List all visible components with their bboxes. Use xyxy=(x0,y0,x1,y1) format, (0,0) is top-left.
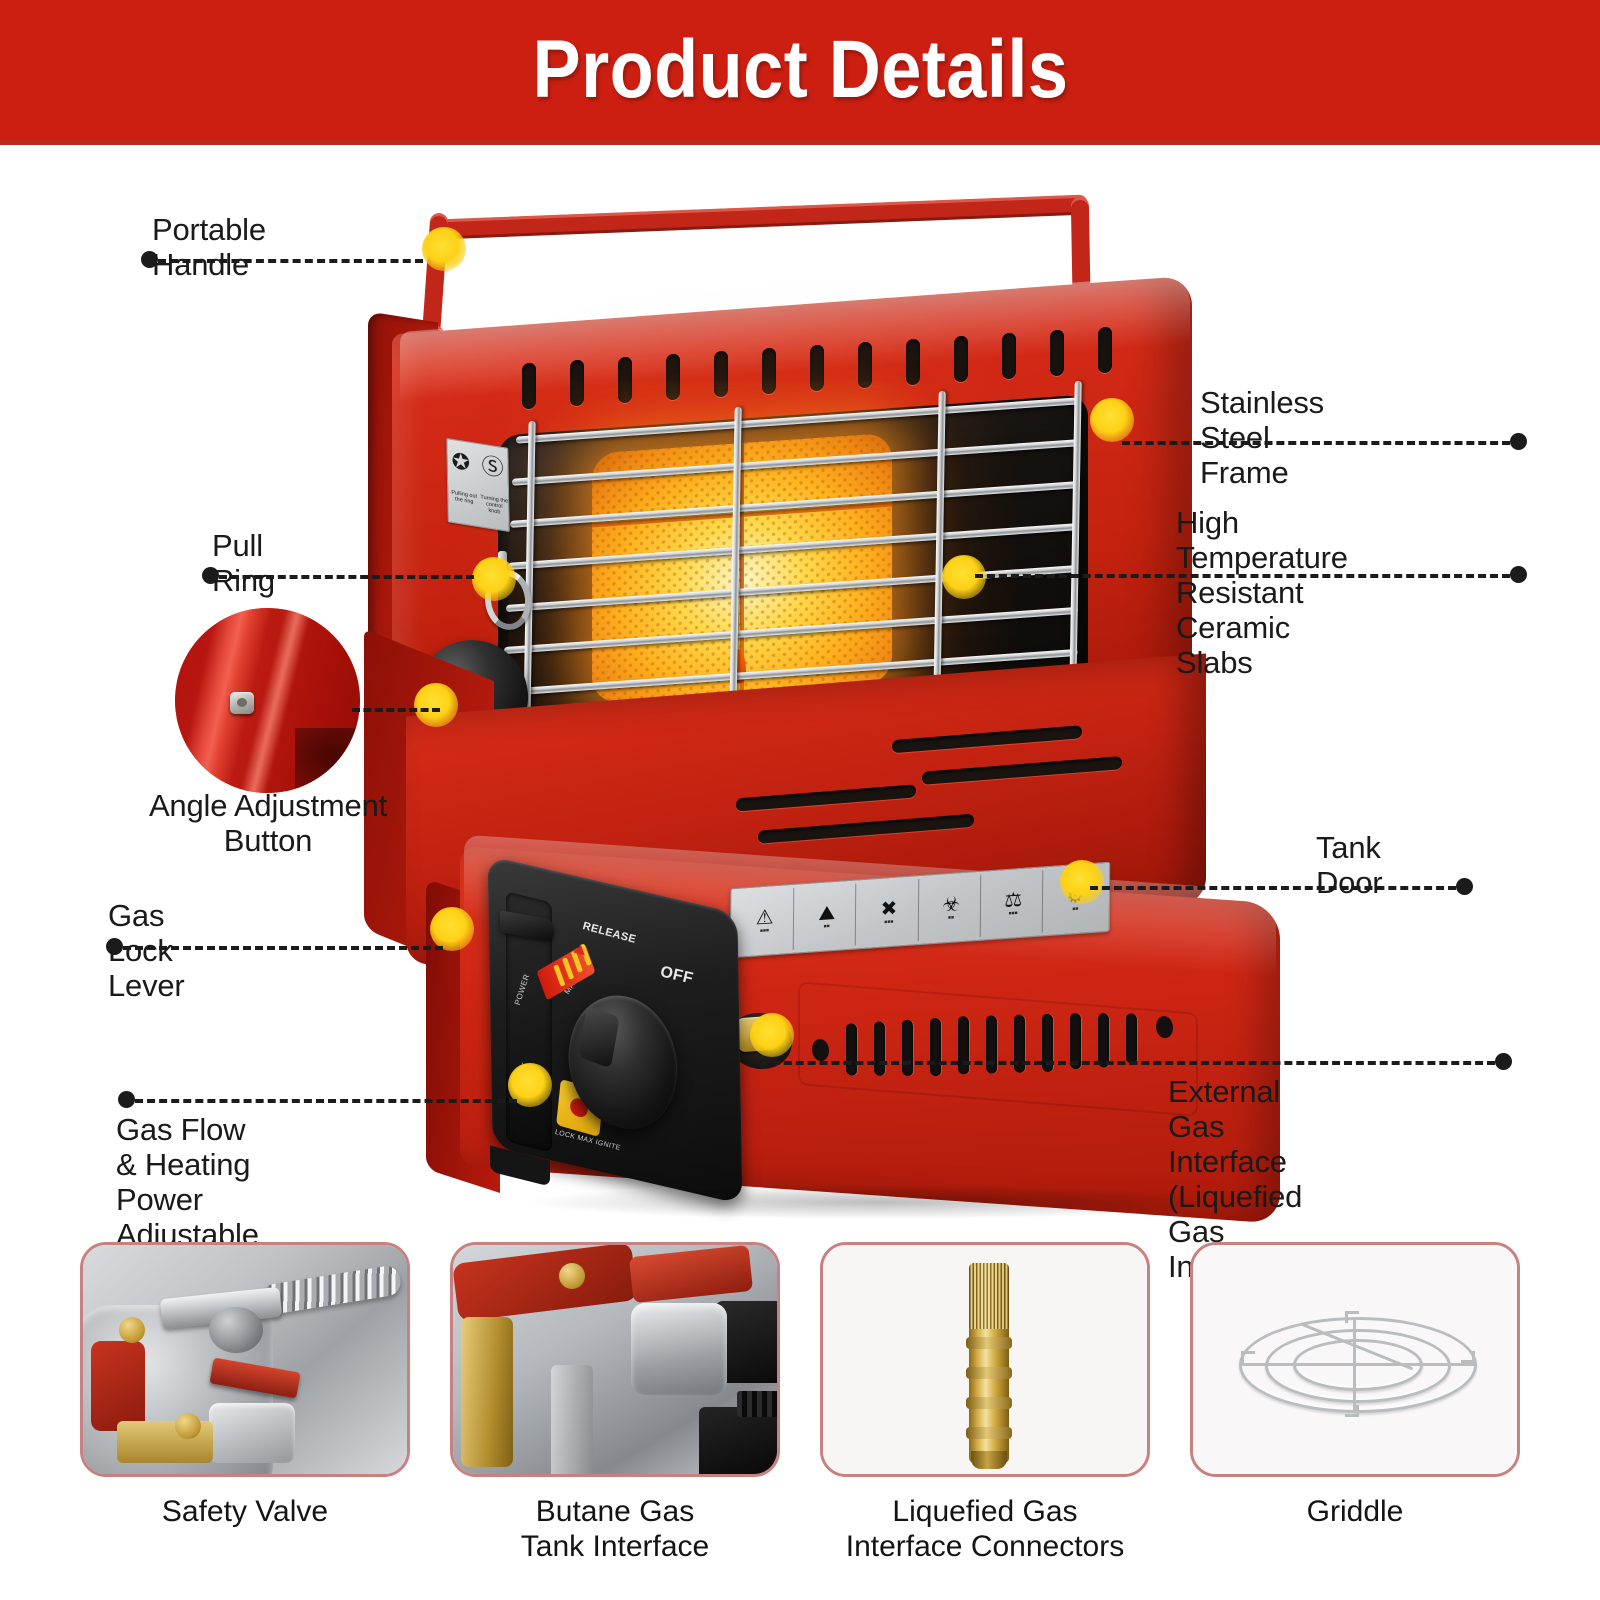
hotspot-gas-lock-lever xyxy=(430,907,474,951)
thumbnail-safety-valve[interactable]: Safety Valve xyxy=(80,1242,410,1600)
instruction-sticker: ✪ Ⓢ Pulling out the ring Turning the con… xyxy=(446,438,509,532)
warning-cell: ⚠■■■ xyxy=(736,888,795,954)
callout-dot-external-gas xyxy=(1495,1053,1512,1070)
angle-adjustment-screw-detail xyxy=(230,692,254,714)
callout-dot-stainless-frame xyxy=(1510,433,1527,450)
thumbnail-caption-lpg-connectors: Liquefied Gas Interface Connectors xyxy=(820,1495,1150,1565)
header-banner: Product Details xyxy=(0,0,1600,140)
product-shadow xyxy=(526,1185,1234,1219)
hotspot-pull-ring xyxy=(472,557,516,601)
callout-line-pull-ring xyxy=(219,575,474,579)
thumbnail-caption-butane-interface: Butane Gas Tank Interface xyxy=(450,1495,780,1565)
sticker-caption-right: Turning the control knob xyxy=(480,494,508,517)
sticker-caption-left: Pulling out the ring xyxy=(450,490,478,507)
thumbnail-butane-interface[interactable]: Butane Gas Tank Interface xyxy=(450,1242,780,1600)
callout-dot-ceramic-slabs xyxy=(1510,566,1527,583)
callout-label-pull-ring: Pull Ring xyxy=(212,528,275,598)
callout-dot-portable-handle xyxy=(141,251,158,268)
callout-dot-gas-flow-knob xyxy=(118,1091,135,1108)
callout-dot-pull-ring xyxy=(202,567,219,584)
hotspot-stainless-frame xyxy=(1090,398,1134,442)
callout-line-gas-lock-lever xyxy=(123,946,443,950)
warning-cell: ⛰■■ xyxy=(798,883,857,949)
product-image-heater: ✪ Ⓢ Pulling out the ring Turning the con… xyxy=(330,185,1290,1245)
callout-dot-tank-door xyxy=(1456,878,1473,895)
callout-line-external-gas xyxy=(760,1061,1495,1065)
portable-handle xyxy=(438,195,1088,240)
thumbnail-caption-safety-valve: Safety Valve xyxy=(80,1495,410,1530)
hotspot-external-gas xyxy=(750,1013,794,1057)
thumbnail-image-lpg-connectors xyxy=(820,1242,1150,1477)
thumbnail-caption-griddle: Griddle xyxy=(1190,1495,1520,1530)
page-title: Product Details xyxy=(532,29,1068,111)
warning-cell: ✖■■■ xyxy=(860,879,919,945)
callout-dot-gas-lock-lever xyxy=(106,938,123,955)
thumbnail-image-griddle xyxy=(1190,1242,1520,1477)
callout-label-stainless-frame: Stainless Steel Frame xyxy=(1200,385,1324,490)
callout-line-ceramic-slabs xyxy=(975,574,1510,578)
thumbnail-image-safety-valve xyxy=(80,1242,410,1477)
callout-label-ceramic-slabs: High Temperature Resistant Ceramic Slabs xyxy=(1176,505,1348,680)
hotspot-portable-handle xyxy=(422,227,466,271)
turn-knob-pictogram: Ⓢ xyxy=(481,455,503,481)
callout-label-portable-handle: Portable Handle xyxy=(152,212,266,282)
thumbnail-lpg-connectors[interactable]: Liquefied Gas Interface Connectors xyxy=(820,1242,1150,1600)
thumbnail-image-butane-interface xyxy=(450,1242,780,1477)
hotspot-angle-button xyxy=(414,683,458,727)
product-details-infographic: Product Details xyxy=(0,0,1600,1600)
callout-line-tank-door xyxy=(1090,886,1456,890)
banner-divider xyxy=(0,140,1600,145)
thumbnail-row: Safety Valve Butane Gas Tank Interface xyxy=(0,1242,1600,1600)
callout-line-stainless-frame xyxy=(1122,441,1510,445)
callout-label-angle-adjustment: Angle Adjustment Button xyxy=(118,788,418,858)
pull-ring-pictogram: ✪ xyxy=(451,450,470,475)
warning-cell: ☣■■ xyxy=(922,875,981,941)
angle-adjustment-magnifier-inset xyxy=(175,608,360,793)
warning-cell: ⚖■■■ xyxy=(984,870,1043,936)
hotspot-tank-door xyxy=(1060,860,1104,904)
thumbnail-griddle[interactable]: Griddle xyxy=(1190,1242,1520,1600)
callout-line-portable-handle xyxy=(158,259,423,263)
callout-line-gas-flow-knob xyxy=(135,1099,517,1103)
callout-line-angle-adjustment xyxy=(352,708,440,712)
